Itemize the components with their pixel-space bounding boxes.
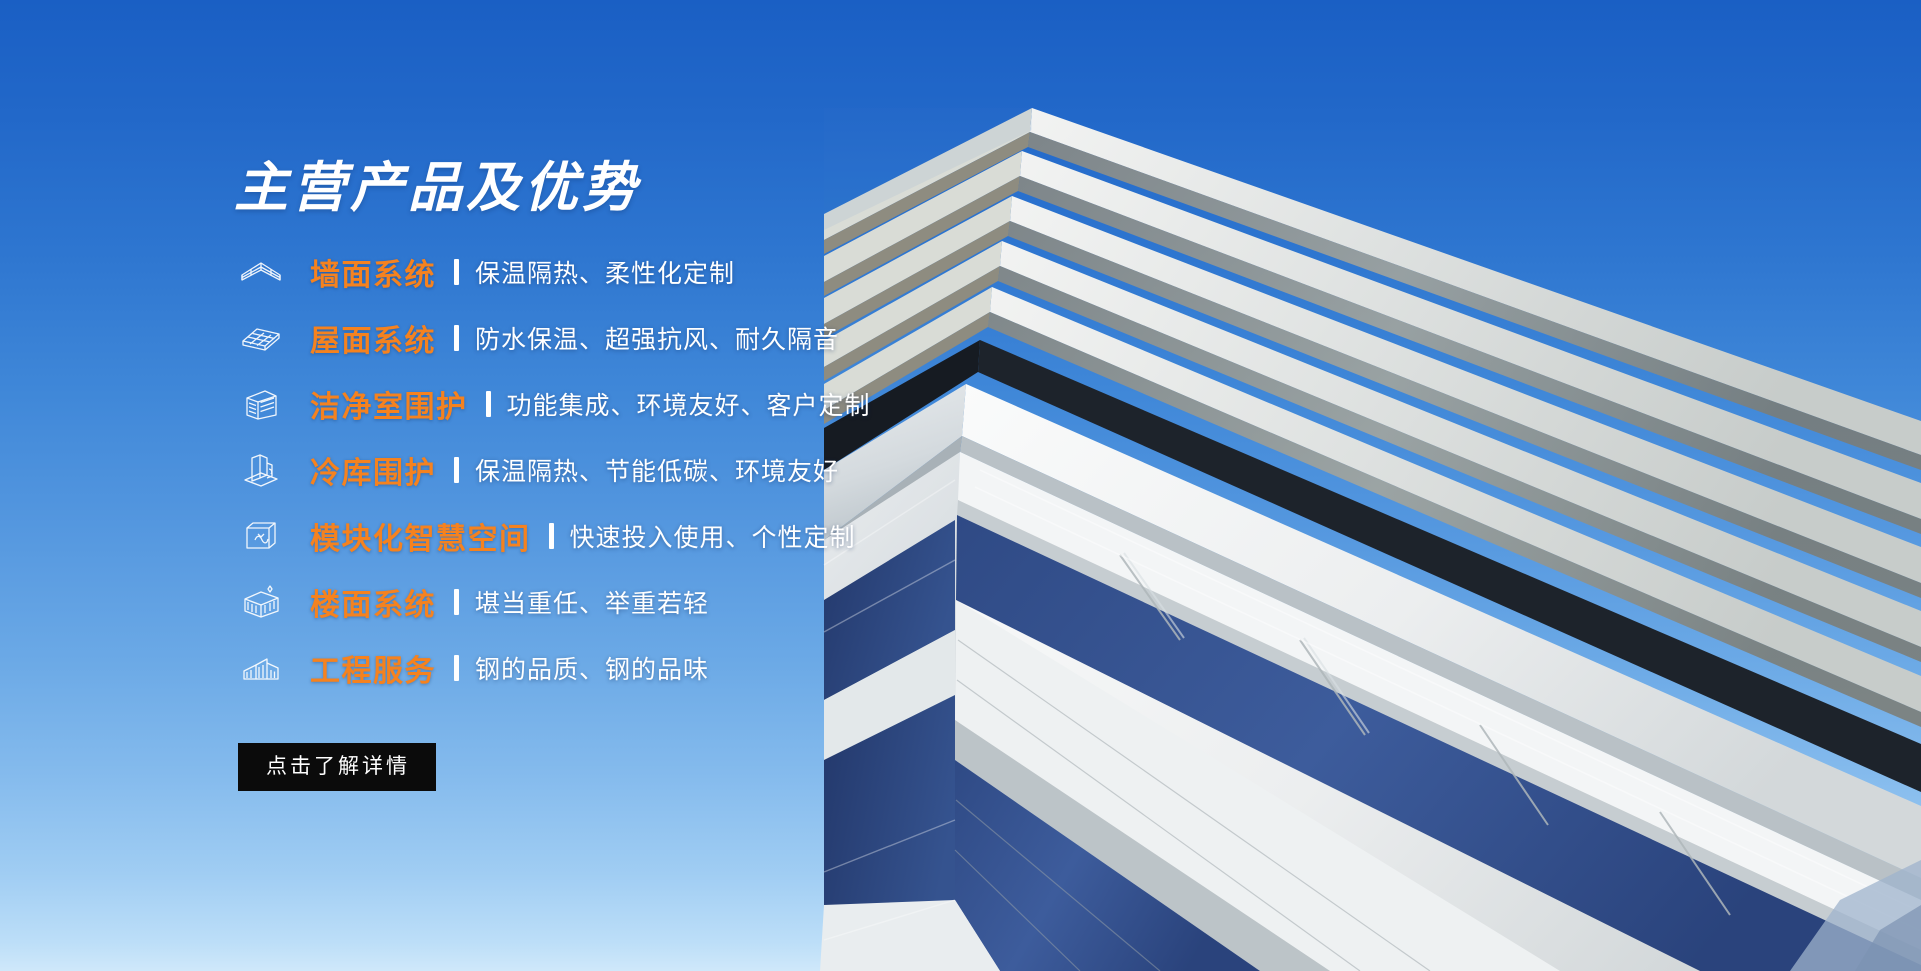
product-desc: 堪当重任、举重若轻 [475,584,709,620]
list-item[interactable]: 模块化智慧空间 快速投入使用、个性定制 [238,503,1234,569]
product-name: 墙面系统 [310,250,436,294]
product-desc: 钢的品质、钢的品味 [475,650,709,686]
banner-content: 主营产品及优势 墙面系统 保温隔热、柔性化定制 [234,160,1234,791]
product-desc: 快速投入使用、个性定制 [570,518,856,554]
product-name: 洁净室围护 [310,382,468,426]
separator-bar [454,589,459,615]
list-item[interactable]: 冷库围护 保温隔热、节能低碳、环境友好 [238,437,1234,503]
product-desc: 保温隔热、柔性化定制 [475,254,735,290]
separator-bar [454,259,459,285]
product-desc: 保温隔热、节能低碳、环境友好 [475,452,839,488]
banner-hero: 主营产品及优势 墙面系统 保温隔热、柔性化定制 [0,0,1921,971]
product-name: 模块化智慧空间 [310,514,531,558]
wall-panel-icon [238,249,284,295]
page-title: 主营产品及优势 [234,160,1234,217]
product-list: 墙面系统 保温隔热、柔性化定制 屋面系统 防水保温、超强抗风、 [238,239,1234,701]
separator-bar [486,391,491,417]
floor-deck-icon [238,579,284,625]
engineering-service-icon [238,645,284,691]
list-item[interactable]: 墙面系统 保温隔热、柔性化定制 [238,239,1234,305]
list-item[interactable]: 屋面系统 防水保温、超强抗风、耐久隔音 [238,305,1234,371]
separator-bar [454,325,459,351]
product-name: 冷库围护 [310,448,436,492]
modular-cube-icon [238,513,284,559]
cold-storage-icon [238,447,284,493]
product-desc: 功能集成、环境友好、客户定制 [507,386,871,422]
list-item[interactable]: 工程服务 钢的品质、钢的品味 [238,635,1234,701]
separator-bar [549,523,554,549]
product-desc: 防水保温、超强抗风、耐久隔音 [475,320,839,356]
roof-panel-icon [238,315,284,361]
product-name: 楼面系统 [310,580,436,624]
cleanroom-building-icon [238,381,284,427]
separator-bar [454,457,459,483]
learn-more-button[interactable]: 点击了解详情 [238,743,436,791]
separator-bar [454,655,459,681]
list-item[interactable]: 洁净室围护 功能集成、环境友好、客户定制 [238,371,1234,437]
list-item[interactable]: 楼面系统 堪当重任、举重若轻 [238,569,1234,635]
product-name: 屋面系统 [310,316,436,360]
product-name: 工程服务 [310,646,436,690]
